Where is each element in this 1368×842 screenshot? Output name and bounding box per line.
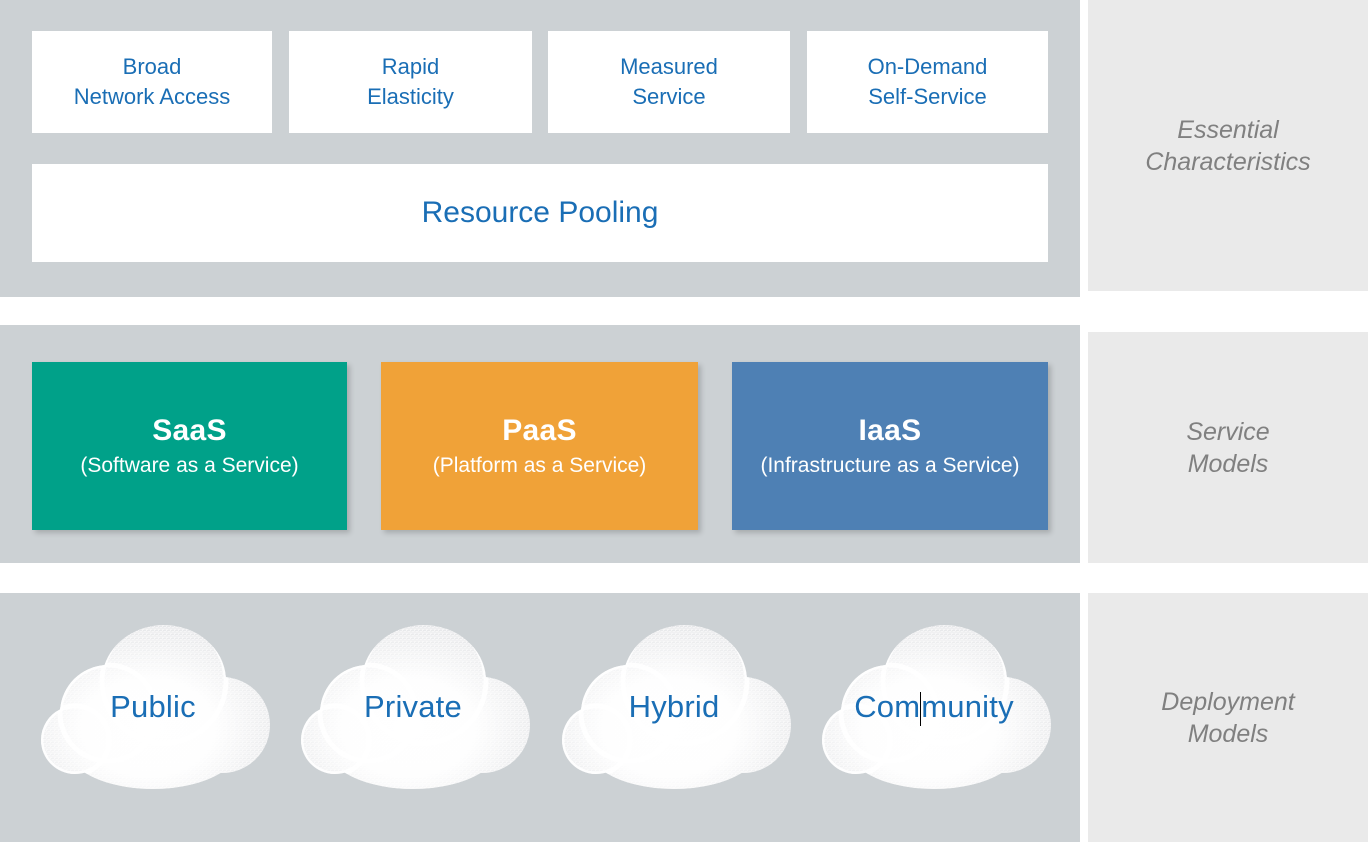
characteristic-card-on-demand-self-service[interactable]: On-Demand Self-Service [807,31,1048,133]
service-model-title: SaaS [152,414,227,448]
side-panel-label: Essential Characteristics [1145,114,1310,178]
service-model-box-iaas[interactable]: IaaS (Infrastructure as a Service) [732,362,1048,530]
characteristic-card-resource-pooling[interactable]: Resource Pooling [32,164,1048,262]
text-caret [920,692,921,726]
service-model-subtitle: (Infrastructure as a Service) [760,454,1019,478]
deployment-cloud-label: Public [34,619,272,794]
service-model-box-saas[interactable]: SaaS (Software as a Service) [32,362,347,530]
service-model-title: IaaS [859,414,922,448]
deployment-cloud-label: Community [815,619,1053,794]
side-panel-service-models: Service Models [1088,332,1368,563]
side-panel-essential-characteristics: Essential Characteristics [1088,0,1368,291]
side-panel-deployment-models: Deployment Models [1088,593,1368,842]
deployment-cloud-community[interactable]: Community [815,619,1053,794]
characteristic-card-measured-service[interactable]: Measured Service [548,31,790,133]
characteristic-card-broad-network-access[interactable]: Broad Network Access [32,31,272,133]
deployment-cloud-label: Private [294,619,532,794]
deployment-cloud-label: Hybrid [555,619,793,794]
service-model-subtitle: (Platform as a Service) [433,454,647,478]
deployment-cloud-public[interactable]: Public [34,619,272,794]
service-model-subtitle: (Software as a Service) [80,454,298,478]
characteristic-card-rapid-elasticity[interactable]: Rapid Elasticity [289,31,532,133]
service-model-box-paas[interactable]: PaaS (Platform as a Service) [381,362,698,530]
deployment-cloud-hybrid[interactable]: Hybrid [555,619,793,794]
deployment-cloud-private[interactable]: Private [294,619,532,794]
side-panel-label: Deployment Models [1161,686,1294,750]
service-model-title: PaaS [502,414,577,448]
side-panel-label: Service Models [1186,416,1269,480]
